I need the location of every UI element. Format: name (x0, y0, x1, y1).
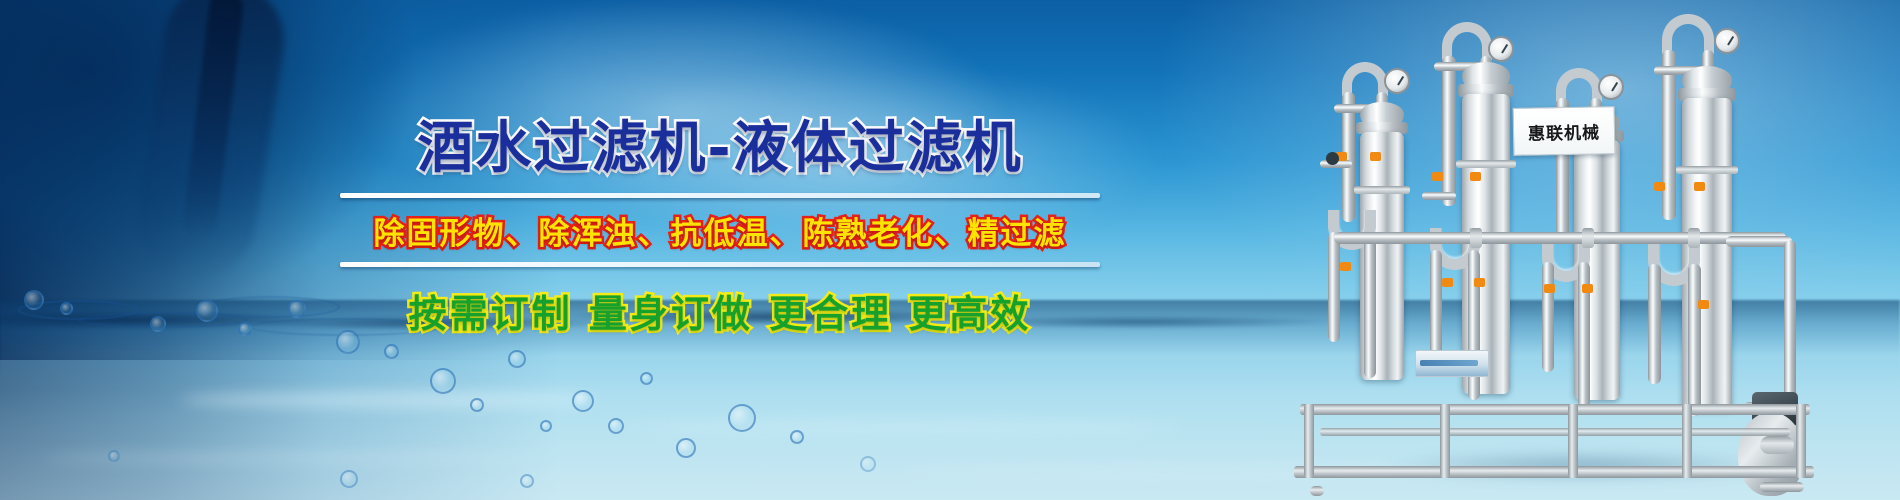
top-bend-3 (1556, 68, 1602, 102)
return-pipe-4 (1688, 264, 1701, 416)
manifold-joint-1 (1470, 228, 1482, 248)
top-bend-4 (1662, 14, 1714, 54)
pump-outlet (1760, 436, 1794, 454)
valve-handle-4 (1432, 172, 1443, 181)
control-label-plate (1415, 350, 1489, 377)
frame-leg-3 (1568, 404, 1578, 478)
inlet-pipe-2 (1442, 56, 1456, 206)
valve-handle-9 (1582, 284, 1593, 293)
page-title: 酒水过滤机-液体过滤机 (330, 118, 1110, 181)
vessel-flange-2 (1456, 160, 1516, 168)
inlet-pipe-4 (1662, 50, 1676, 220)
water-bubble (572, 390, 594, 412)
water-bubble (608, 418, 624, 434)
promotional-banner: 酒水过滤机-液体过滤机 除固形物、除浑浊、抗低温、陈熟老化、精过滤 按需订制 量… (0, 0, 1900, 500)
down-pipe-4 (1648, 264, 1661, 384)
frame-foot-1 (1310, 486, 1324, 496)
pressure-gauge-3 (1598, 74, 1624, 100)
valve-knob-1 (1326, 152, 1339, 165)
valve-handle-3 (1340, 262, 1351, 271)
return-pipe-1 (1364, 232, 1376, 378)
manifold-pipe (1334, 232, 1786, 244)
frame-mid-rail (1320, 428, 1790, 436)
outlet-pipe-h (1726, 236, 1792, 247)
valve-handle-7 (1474, 278, 1485, 287)
brand-sign-text: 惠联机械 (1528, 118, 1600, 144)
pressure-gauge-2 (1488, 36, 1514, 62)
water-bubble (60, 302, 73, 315)
banner-text-block: 酒水过滤机-液体过滤机 除固形物、除浑浊、抗低温、陈熟老化、精过滤 按需订制 量… (330, 118, 1110, 338)
water-bubble (520, 474, 534, 488)
frame-top-rail (1300, 404, 1810, 415)
brand-sign: 惠联机械 (1513, 106, 1616, 156)
valve-handle-11 (1694, 182, 1705, 191)
feature-divider (340, 262, 1100, 267)
water-bubble (384, 344, 399, 359)
water-bubble (108, 450, 120, 462)
valve-handle-2 (1370, 152, 1381, 161)
water-bubble (150, 316, 166, 332)
down-pipe-1 (1328, 232, 1340, 342)
frame-leg-4 (1682, 404, 1692, 478)
top-bend-1 (1342, 62, 1388, 96)
water-bubble (196, 300, 218, 322)
water-ripple (200, 296, 340, 318)
outlet-pipe-v (1784, 240, 1796, 408)
frame-foot-2 (1760, 482, 1804, 492)
frame-leg-5 (1796, 404, 1806, 478)
feature-list-text: 除固形物、除浑浊、抗低温、陈熟老化、精过滤 (330, 208, 1110, 253)
frame-leg-2 (1440, 404, 1450, 478)
tagline-text: 按需订制 量身订做 更合理 更高效 (330, 283, 1110, 338)
water-bubble (24, 290, 44, 310)
water-bubble (508, 350, 526, 368)
valve-handle-10 (1654, 182, 1665, 191)
pressure-gauge-1 (1384, 68, 1410, 94)
water-bubble (676, 438, 696, 458)
water-bubble (430, 368, 456, 394)
water-bubble (728, 404, 756, 432)
top-bend-2 (1442, 22, 1492, 60)
frame-leg-1 (1304, 404, 1314, 478)
water-bubble (288, 300, 306, 318)
pressure-gauge-4 (1714, 28, 1740, 54)
manifold-joint-2 (1582, 228, 1594, 248)
water-highlight-streak (620, 420, 1180, 434)
vessel-flange-4 (1676, 166, 1738, 174)
water-bubble (470, 398, 484, 412)
return-pipe-2 (1468, 250, 1480, 400)
filtration-machine: 惠联机械 (1290, 0, 1900, 500)
title-divider (340, 193, 1100, 198)
water-bubble (340, 470, 358, 488)
valve-handle-8 (1544, 284, 1555, 293)
vessel-flange-1 (1354, 186, 1410, 194)
manifold-joint-3 (1688, 228, 1700, 248)
valve-handle-5 (1470, 172, 1481, 181)
valve-handle-12 (1698, 300, 1709, 309)
valve-handle-6 (1442, 278, 1453, 287)
water-bubble (790, 430, 804, 444)
frame-bottom-rail (1294, 466, 1814, 478)
water-highlight-streak (180, 392, 600, 408)
down-pipe-3 (1542, 262, 1554, 372)
water-bubble (860, 456, 876, 472)
water-bubble (540, 420, 552, 432)
water-bubble (640, 372, 653, 385)
side-branch-2 (1422, 192, 1456, 200)
water-bubble (238, 322, 252, 336)
